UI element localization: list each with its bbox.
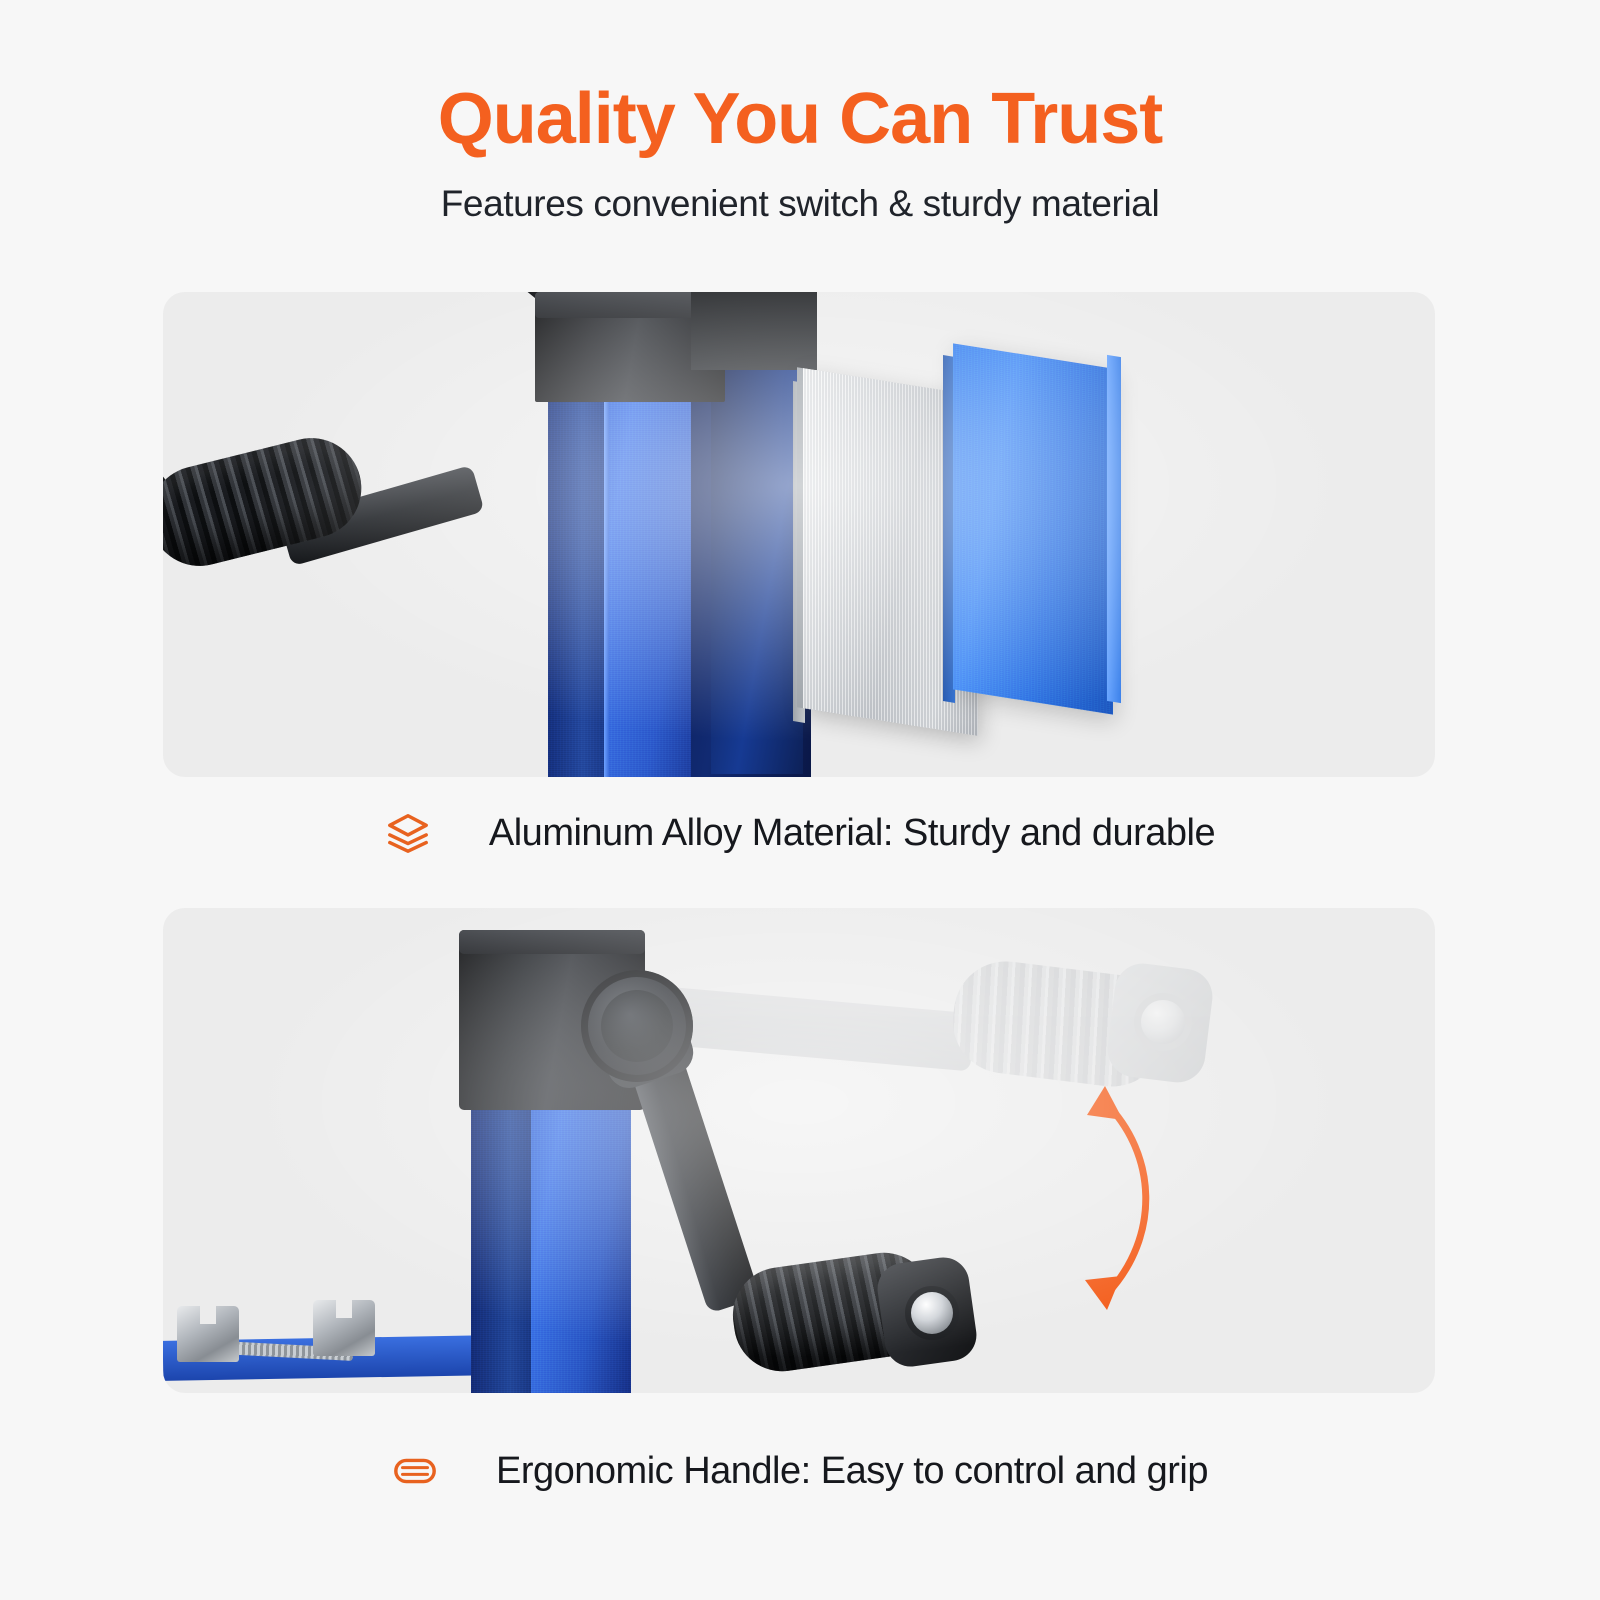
ergonomic-handle-image: VEVOR® TOUGH TOOLS HALF PRICE Technical … [163, 908, 1435, 1393]
aluminum-alloy-panel: VEVOR® TOUGH TOOLS HALF PRICE Technical … [163, 292, 1435, 777]
feature-caption-text: Ergonomic Handle: Easy to control and gr… [496, 1450, 1208, 1493]
layers-icon [385, 810, 431, 856]
jack-post-recess-inner [711, 354, 803, 774]
feature-caption-aluminum: Aluminum Alloy Material: Sturdy and dura… [0, 810, 1600, 856]
rotation-arrow-icon [1061, 1068, 1231, 1328]
crank-grip-bolt [911, 1292, 953, 1334]
jack-top-cap-surface [459, 930, 645, 954]
ghost-crank-arm [661, 987, 975, 1072]
aluminum-alloy-image: VEVOR® TOUGH TOOLS HALF PRICE Technical … [163, 292, 1435, 777]
ghost-grip-bolt [1141, 1000, 1185, 1044]
header: Quality You Can Trust Features convenien… [0, 0, 1600, 225]
mounting-clamp-left [177, 1306, 239, 1362]
mounting-clamp-right [313, 1300, 375, 1356]
handle-grip-icon [392, 1448, 438, 1494]
page-subtitle: Features convenient switch & sturdy mate… [0, 183, 1600, 225]
blue-anodized-aluminum-plate [953, 343, 1113, 714]
page-title: Quality You Can Trust [0, 82, 1600, 157]
product-feature-page: Quality You Can Trust Features convenien… [0, 0, 1600, 1600]
feature-caption-handle: Ergonomic Handle: Easy to control and gr… [0, 1448, 1600, 1494]
feature-caption-text: Aluminum Alloy Material: Sturdy and dura… [489, 812, 1215, 855]
crank-grip-ribbed [163, 427, 372, 576]
jack-post-left-face [471, 1090, 531, 1393]
blue-plate-right-highlight [1107, 355, 1121, 703]
crank-pivot-inner [601, 990, 673, 1062]
jack-top-cap-shadow [691, 292, 817, 370]
ergonomic-handle-panel: VEVOR® TOUGH TOOLS HALF PRICE Technical … [163, 908, 1435, 1393]
